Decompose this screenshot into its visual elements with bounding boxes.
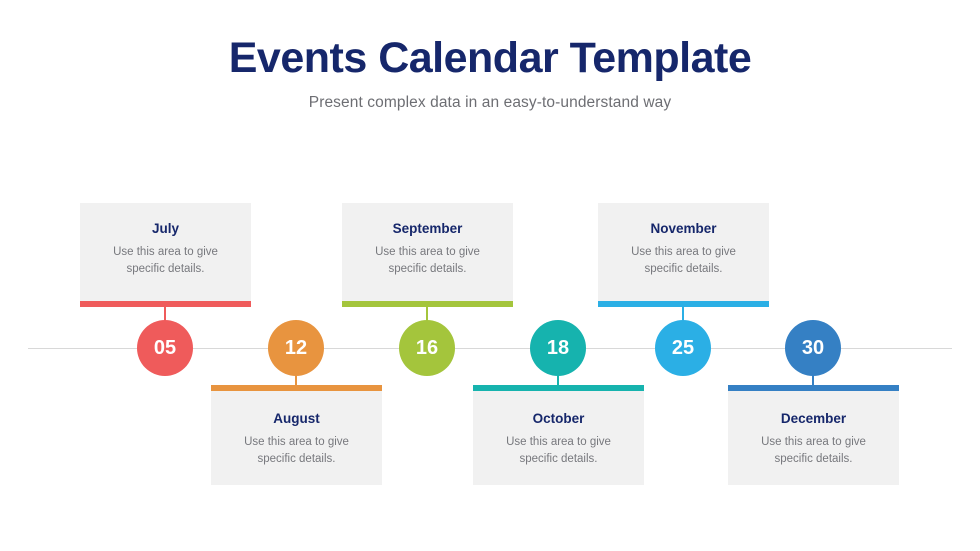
card-description: Use this area to give specific details. <box>80 244 251 277</box>
card-month-label: November <box>598 221 769 237</box>
card-accent-bar <box>80 301 251 307</box>
card-description: Use this area to give specific details. <box>211 434 382 467</box>
day-marker-circle[interactable]: 12 <box>268 320 324 376</box>
card-description: Use this area to give specific details. <box>342 244 513 277</box>
timeline: JulyUse this area to give specific detai… <box>0 0 980 551</box>
day-marker-circle[interactable]: 18 <box>530 320 586 376</box>
event-card[interactable]: DecemberUse this area to give specific d… <box>728 385 899 485</box>
day-marker-circle[interactable]: 16 <box>399 320 455 376</box>
day-marker-circle[interactable]: 30 <box>785 320 841 376</box>
card-accent-bar <box>598 301 769 307</box>
card-month-label: July <box>80 221 251 237</box>
card-accent-bar <box>211 385 382 391</box>
card-accent-bar <box>342 301 513 307</box>
card-description: Use this area to give specific details. <box>473 434 644 467</box>
day-marker-circle[interactable]: 25 <box>655 320 711 376</box>
card-month-label: October <box>473 411 644 427</box>
card-month-label: December <box>728 411 899 427</box>
slide-canvas: Events Calendar Template Present complex… <box>0 0 980 551</box>
event-card[interactable]: NovemberUse this area to give specific d… <box>598 203 769 307</box>
card-accent-bar <box>728 385 899 391</box>
event-card[interactable]: AugustUse this area to give specific det… <box>211 385 382 485</box>
card-description: Use this area to give specific details. <box>598 244 769 277</box>
card-description: Use this area to give specific details. <box>728 434 899 467</box>
day-marker-circle[interactable]: 05 <box>137 320 193 376</box>
card-month-label: August <box>211 411 382 427</box>
event-card[interactable]: SeptemberUse this area to give specific … <box>342 203 513 307</box>
event-card[interactable]: OctoberUse this area to give specific de… <box>473 385 644 485</box>
card-accent-bar <box>473 385 644 391</box>
card-month-label: September <box>342 221 513 237</box>
event-card[interactable]: JulyUse this area to give specific detai… <box>80 203 251 307</box>
